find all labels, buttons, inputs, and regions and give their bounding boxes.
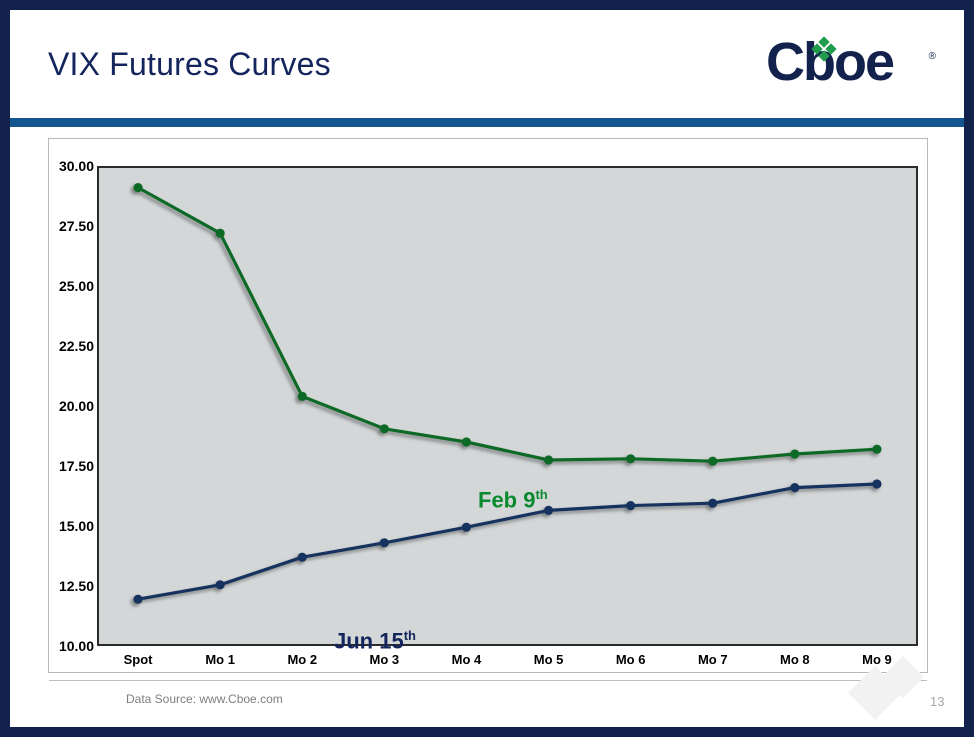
slide-border-left [0,0,10,737]
x-axis-tick-label: Mo 4 [421,652,511,667]
series-data-point [708,457,717,466]
series-data-point [790,483,799,492]
slide-border-right [964,0,974,737]
series-data-point [298,392,307,401]
slide-root: VIX Futures Curves Cboe ® 10.0012.5015.0… [0,0,974,737]
x-axis-tick-label: Mo 8 [750,652,840,667]
x-axis-tick-label: Spot [93,652,183,667]
series-line [138,188,877,462]
data-source-note: Data Source: www.Cboe.com [126,692,283,706]
y-axis-tick-label: 15.00 [24,518,94,534]
registered-trademark-icon: ® [929,51,936,62]
x-axis-tick-label: Mo 1 [175,652,265,667]
y-axis-tick-label: 10.00 [24,638,94,654]
y-axis-tick-label: 30.00 [24,158,94,174]
series-label-feb-suffix: th [535,487,547,502]
y-axis-tick-label: 25.00 [24,278,94,294]
series-label-jun-suffix: th [404,628,416,643]
slide-header: VIX Futures Curves Cboe ® [10,10,964,118]
y-axis-tick-label: 22.50 [24,338,94,354]
x-axis-tick-label: Mo 7 [668,652,758,667]
series-data-point [872,479,881,488]
slide-border-top [0,0,974,10]
y-axis-tick-label: 27.50 [24,218,94,234]
series-data-point [298,553,307,562]
series-data-point [872,445,881,454]
page-title: VIX Futures Curves [48,46,331,83]
x-axis-baseline [49,680,927,681]
chart-series-layer [97,166,918,646]
series-data-point [708,499,717,508]
series-label-jun: Jun 15th [334,628,416,654]
y-axis-tick-label: 12.50 [24,578,94,594]
page-number: 13 [930,694,944,709]
series-data-point [216,229,225,238]
series-data-point [626,454,635,463]
series-data-point [462,437,471,446]
x-axis-tick-label: Mo 9 [832,652,922,667]
series-data-point [544,455,553,464]
chart-container: 10.0012.5015.0017.5020.0022.5025.0027.50… [48,138,928,673]
slide-border-bottom [0,727,974,737]
series-label-feb: Feb 9th [478,487,548,513]
series-data-point [380,424,389,433]
y-axis-tick-label: 20.00 [24,398,94,414]
cboe-diamond-icon [813,38,835,60]
y-axis-tick-label: 17.50 [24,458,94,474]
header-accent-bar [10,118,964,127]
x-axis-tick-label: Mo 5 [504,652,594,667]
series-data-point [133,595,142,604]
cboe-logo-letter-c: C [766,32,803,92]
watermark-diamond-large [848,666,902,720]
series-data-point [216,580,225,589]
series-data-point [380,538,389,547]
series-data-point [133,183,142,192]
series-data-point [462,523,471,532]
chart-series-feb [133,183,881,466]
diamond-watermark-icon [852,668,942,724]
cboe-logo: Cboe ® [766,31,938,97]
series-data-point [626,501,635,510]
series-label-feb-text: Feb 9 [478,487,535,512]
series-label-jun-text: Jun 15 [334,628,404,653]
series-data-point [790,449,799,458]
x-axis-tick-label: Mo 6 [586,652,676,667]
